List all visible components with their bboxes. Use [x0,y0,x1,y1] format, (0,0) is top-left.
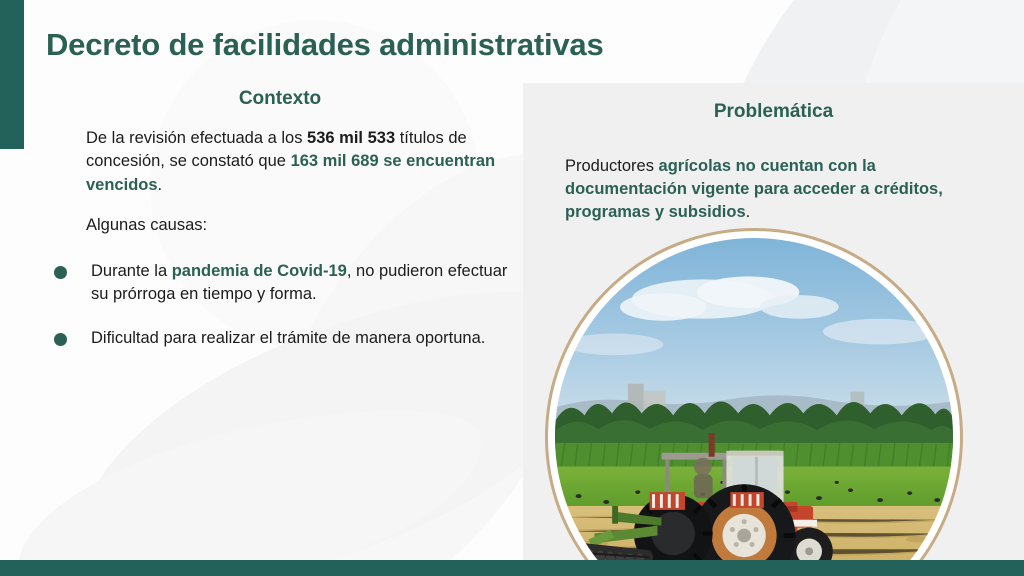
bullet-text-1: Durante la pandemia de Covid-19, no pudi… [91,260,520,307]
problematica-part-1: Productores [565,157,659,175]
list-item: Durante la pandemia de Covid-19, no pudi… [40,260,520,307]
context-paragraph: De la revisión efectuada a los 536 mil 5… [40,127,520,197]
page-title: Decreto de facilidades administrativas [46,27,604,63]
slide-canvas: Decreto de facilidades administrativas C… [0,0,1024,576]
bullet-text-2: Dificultad para realizar el trámite de m… [91,327,520,350]
tractor-in-field-photo-icon [555,238,953,576]
problematica-part-2: . [746,203,751,221]
bullet-1-highlight: pandemia de Covid-19 [172,262,347,280]
bottom-accent-bar [0,560,1024,576]
list-item: Dificultad para realizar el trámite de m… [40,327,520,350]
bullet-icon [54,333,67,346]
problematica-heading: Problemática [523,101,1024,123]
context-figure-total: 536 mil 533 [307,129,395,147]
left-accent-bar [0,0,24,149]
bullet-icon [54,266,67,279]
tractor-photo [555,238,953,576]
watermark-shape-band-b [0,378,501,576]
context-paragraph-part-3: . [158,176,163,194]
context-paragraph-part-1: De la revisión efectuada a los [86,129,307,147]
context-heading: Contexto [40,88,520,110]
bullet-1-part-1: Durante la [91,262,172,280]
problematica-paragraph: Productores agrícolas no cuentan con la … [565,155,980,225]
causes-label: Algunas causas: [40,214,520,237]
context-column: Contexto De la revisión efectuada a los … [40,88,520,370]
